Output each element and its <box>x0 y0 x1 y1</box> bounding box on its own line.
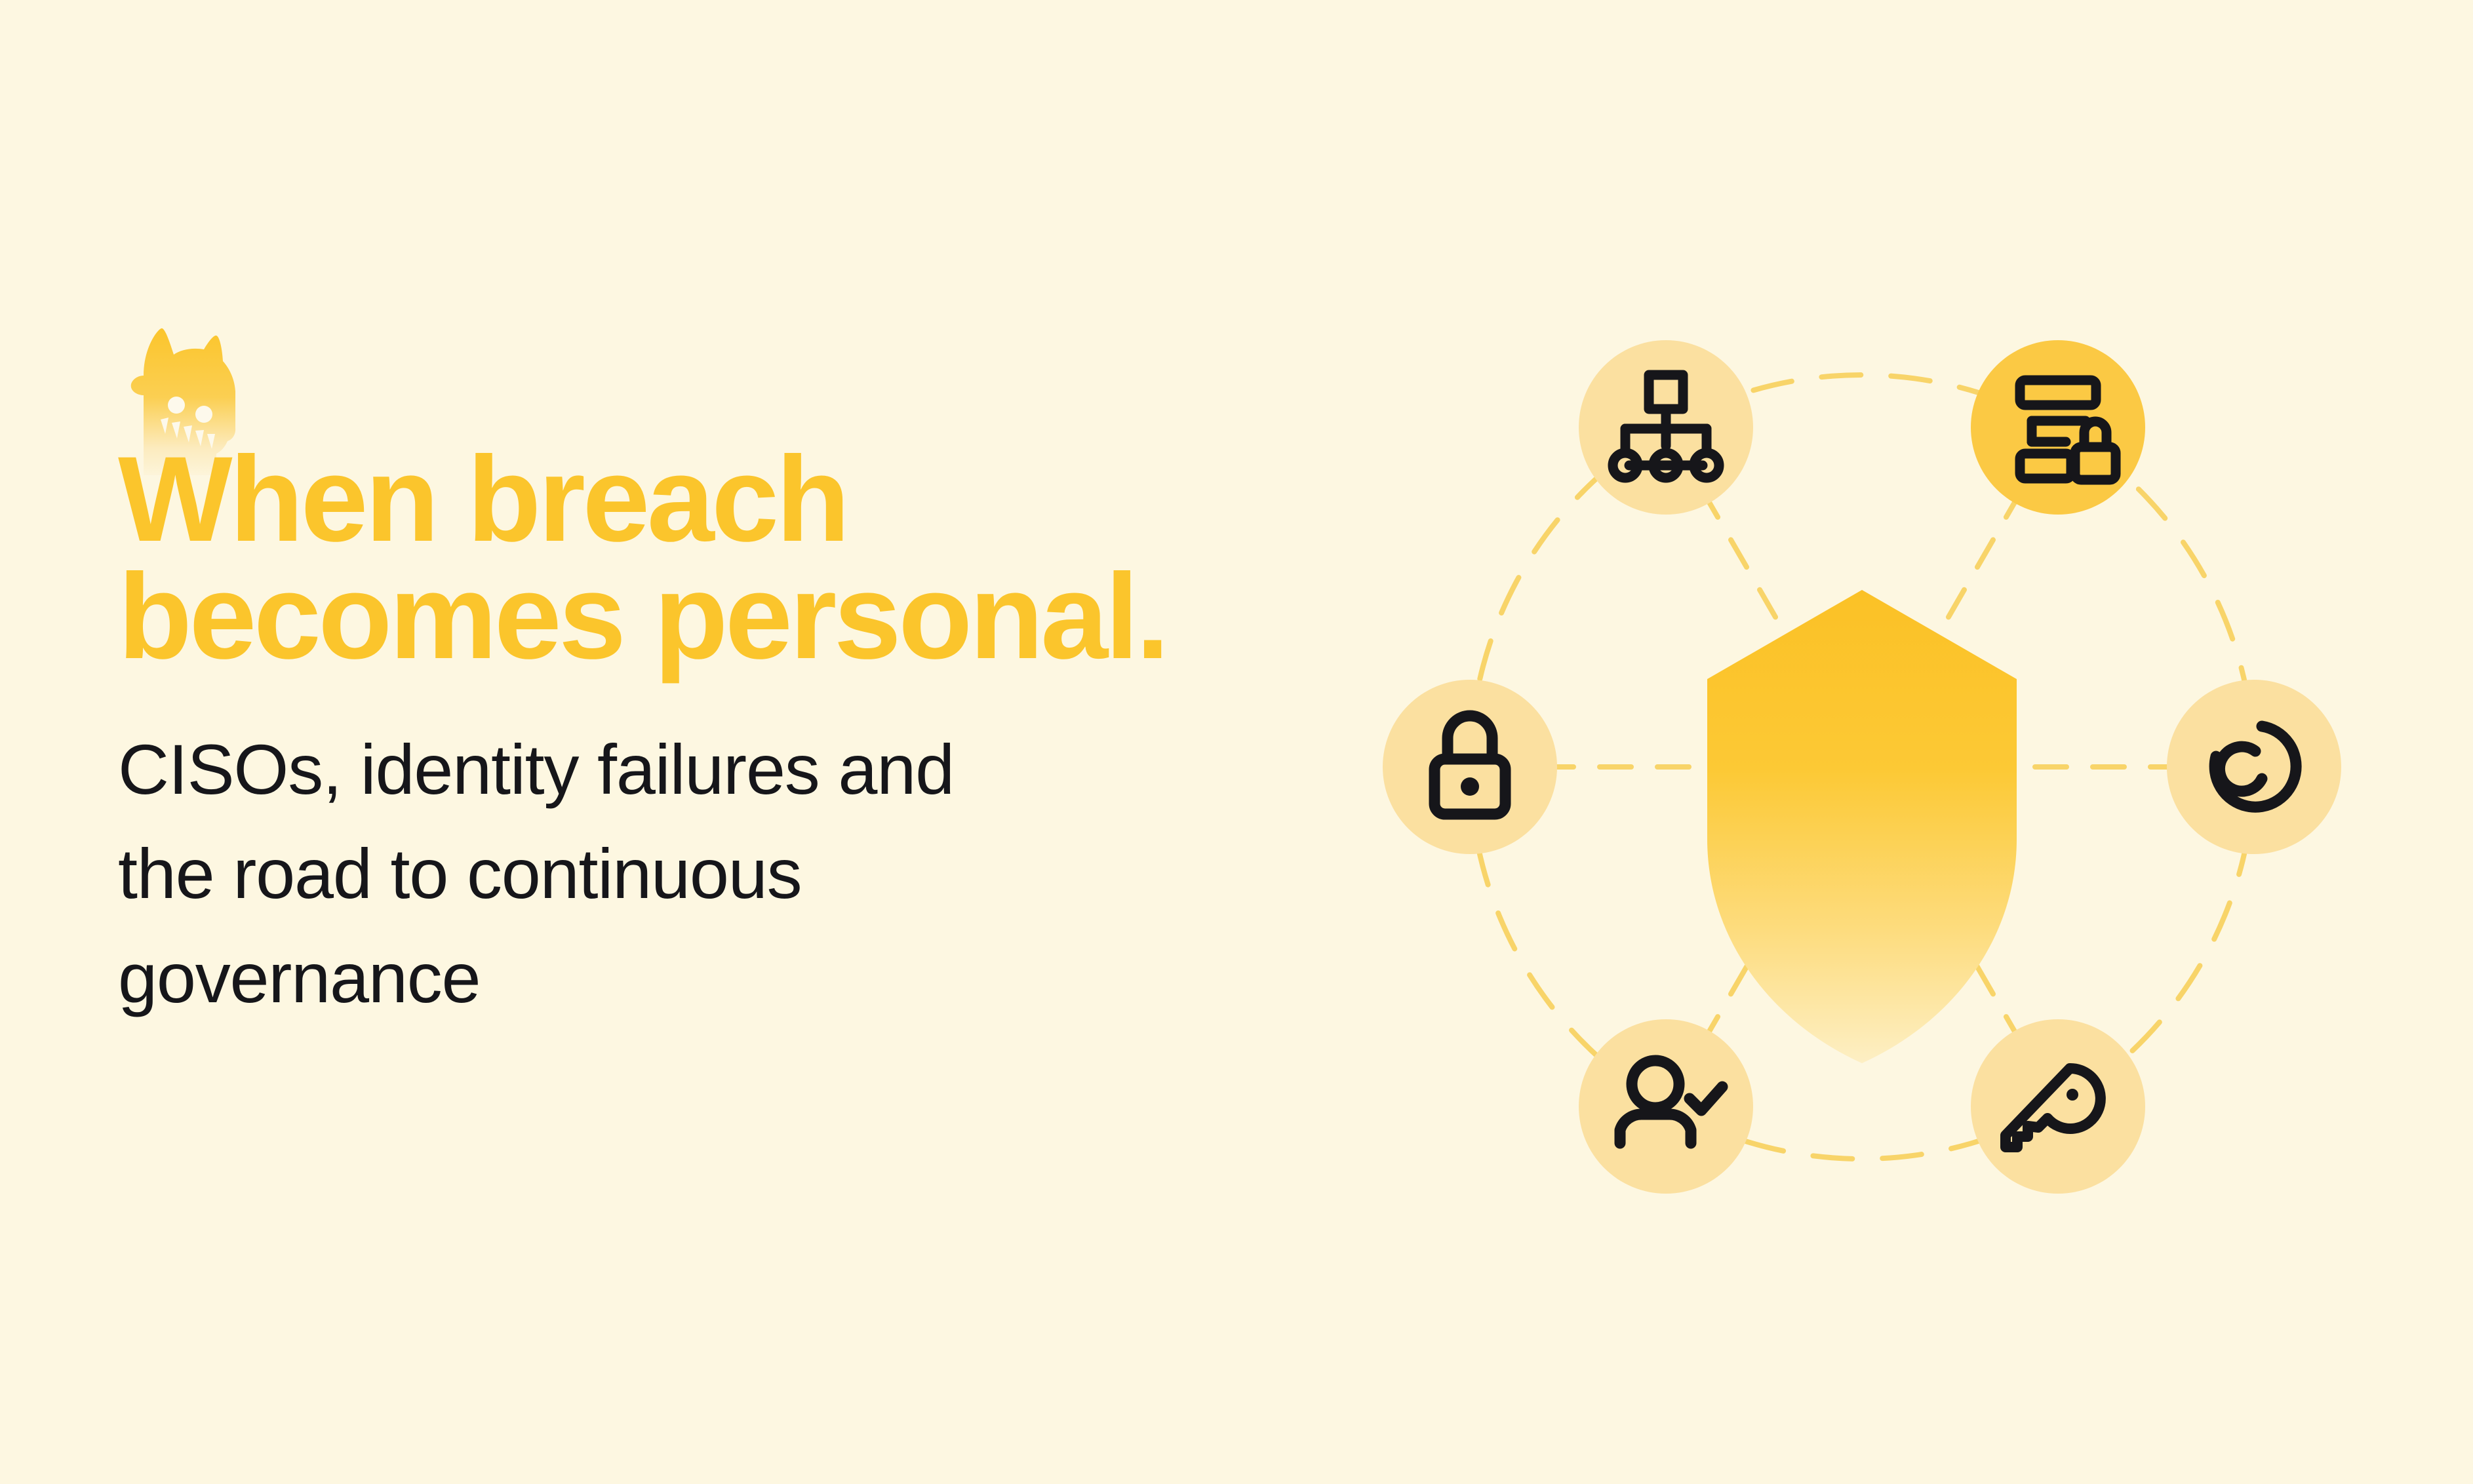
node-circle[interactable] <box>1971 1019 2145 1194</box>
security-governance-diagram <box>1246 249 2473 1272</box>
page-headline: When breach becomes personal. <box>118 441 1272 676</box>
shield-icon <box>1707 590 2017 1063</box>
page-subheadline: CISOs, identity failures and the road to… <box>118 718 1219 1030</box>
node-circle[interactable] <box>1383 680 1557 854</box>
slide-canvas: When breach becomes personal. CISOs, ide… <box>0 0 2473 1484</box>
node-hierarchy[interactable] <box>1579 340 1753 515</box>
node-access-policy[interactable] <box>1971 340 2145 515</box>
node-verified-user[interactable] <box>1579 1019 1753 1194</box>
node-circle-highlighted[interactable] <box>1971 340 2145 515</box>
node-continuous[interactable] <box>2167 680 2341 854</box>
node-padlock[interactable] <box>1383 680 1557 854</box>
node-credential[interactable] <box>1971 1019 2145 1194</box>
node-circle[interactable] <box>2167 680 2341 854</box>
